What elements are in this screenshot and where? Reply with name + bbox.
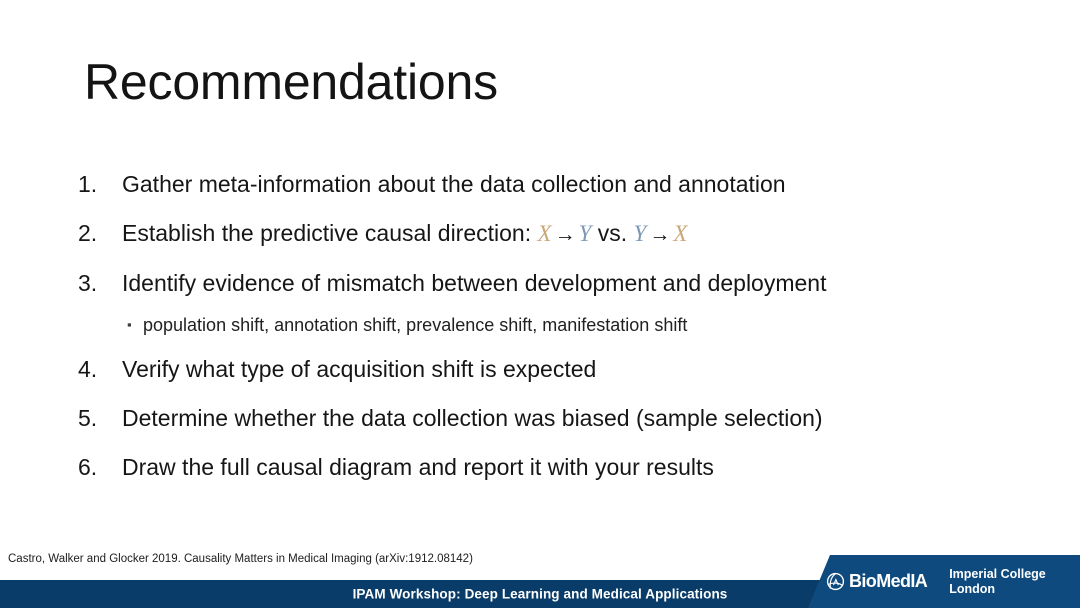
causal-variable-x: X [538,221,552,246]
list-item-text: Verify what type of acquisition shift is… [122,353,596,385]
biomedia-logo: BioMedIA [826,571,927,592]
imperial-college-logo: Imperial College London [949,567,1046,596]
list-item-text: Identify evidence of mismatch between de… [122,267,826,299]
recommendations-list: 1. Gather meta-information about the dat… [78,168,1038,500]
list-item: 6. Draw the full causal diagram and repo… [78,451,1038,483]
causal-variable-y: Y [634,221,647,246]
list-item-number: 2. [78,217,122,249]
list-item-number: 5. [78,402,122,434]
slide-canvas: Recommendations 1. Gather meta-informati… [0,0,1080,608]
list-item: 4. Verify what type of acquisition shift… [78,353,1038,385]
citation-text: Castro, Walker and Glocker 2019. Causali… [8,553,473,565]
list-item-number: 1. [78,168,122,200]
causal-variable-y: Y [579,221,592,246]
list-item-number: 6. [78,451,122,483]
list-item: 3. Identify evidence of mismatch between… [78,267,1038,299]
causal-direction-prefix: Establish the predictive causal directio… [122,220,531,246]
list-item-text: Establish the predictive causal directio… [122,217,687,250]
sub-list-item-text: population shift, annotation shift, prev… [143,313,687,337]
imperial-line-2: London [949,582,1046,597]
causal-variable-x: X [673,221,687,246]
biomedia-wordmark: BioMedIA [849,571,927,592]
causal-separator: vs. [598,220,627,246]
biomedia-globe-icon [826,572,845,591]
arrow-right-icon: → [646,223,673,246]
list-item-number: 4. [78,353,122,385]
list-item: 2. Establish the predictive causal direc… [78,217,1038,250]
sub-list-item: ▪ population shift, annotation shift, pr… [127,313,1038,337]
list-item: 5. Determine whether the data collection… [78,402,1038,434]
list-item-number: 3. [78,267,122,299]
list-item-text: Determine whether the data collection wa… [122,402,823,434]
arrow-right-icon: → [552,223,579,246]
square-bullet-icon: ▪ [127,318,143,331]
list-item-text: Draw the full causal diagram and report … [122,451,714,483]
list-item: 1. Gather meta-information about the dat… [78,168,1038,200]
logo-band: BioMedIA Imperial College London [808,555,1080,608]
page-title: Recommendations [84,56,498,109]
list-item-text: Gather meta-information about the data c… [122,168,786,200]
imperial-line-1: Imperial College [949,567,1046,582]
